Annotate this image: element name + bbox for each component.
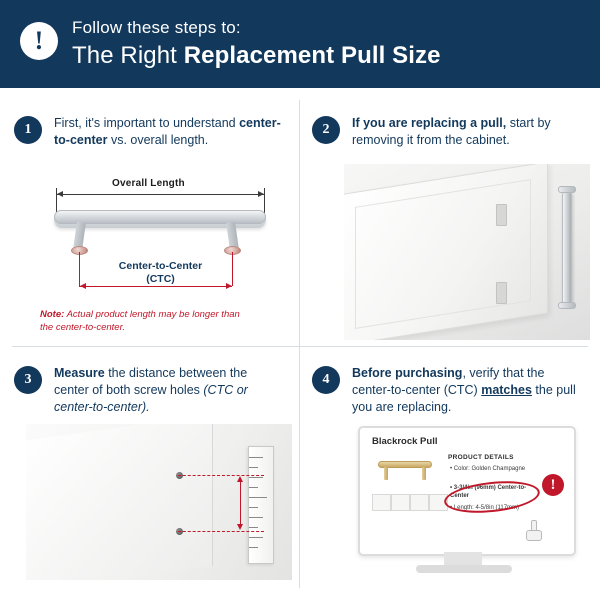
header-subtitle: Follow these steps to:	[72, 18, 241, 38]
alert-badge: !	[542, 474, 564, 496]
cabinet-hinge-bottom	[496, 282, 507, 304]
monitor-base	[416, 565, 512, 573]
overall-length-line	[56, 194, 264, 195]
ruler-tick	[249, 517, 263, 518]
cabinet-pull-cap-bottom	[558, 302, 576, 309]
header-title-emphasis: Replacement Pull Size	[184, 42, 441, 69]
ruler-tick	[249, 497, 267, 498]
step-2-number: 2	[312, 116, 340, 144]
cabinet-pull-cap-top	[558, 186, 576, 193]
thumbnail[interactable]	[372, 494, 391, 511]
header-alert-badge: !	[20, 22, 58, 60]
exclamation-mark-icon: !	[35, 28, 44, 54]
header-title-prefix: The Right	[72, 42, 184, 69]
measure-guide-top	[178, 475, 264, 476]
step-1-text-part1: First, it's important to understand	[54, 116, 239, 130]
product-pull-leg-right	[422, 467, 426, 480]
ruler-tick	[249, 507, 258, 508]
overall-length-tick-right	[264, 188, 265, 214]
product-details-heading: PRODUCT DETAILS	[448, 454, 514, 461]
overall-length-label: Overall Length	[108, 178, 189, 189]
step-4-cell: 4 Before purchasing, verify that the cen…	[310, 354, 590, 588]
step-1-text-part2: vs. overall length.	[107, 133, 208, 147]
step-3-text-bold: Measure	[54, 366, 105, 380]
ruler-tick	[249, 537, 263, 538]
step-3-text: Measure the distance between the center …	[54, 365, 284, 416]
ruler-tick	[249, 457, 263, 458]
step-2-text-bold: If you are replacing a pull,	[352, 116, 506, 130]
step-1-cell: 1 First, it's important to understand ce…	[12, 104, 292, 342]
horizontal-divider	[12, 346, 588, 347]
step-2-illustration	[344, 164, 590, 340]
overall-length-arrow-right	[258, 191, 264, 197]
step-1-note: Note: Actual product length may be longe…	[40, 308, 250, 334]
cabinet-hinge-top	[496, 204, 507, 226]
step-4-text-bold: Before purchasing	[352, 366, 462, 380]
step-3-number: 3	[14, 366, 42, 394]
product-image	[374, 456, 436, 486]
cabinet-pull	[562, 190, 572, 306]
ctc-label: Center-to-Center(CTC)	[88, 260, 233, 286]
monitor-screen: Blackrock Pull PRODUCT DETAILS • Color: …	[358, 426, 576, 556]
ctc-label-line1: Center-to-Center	[119, 260, 202, 272]
measure-arrow-down	[237, 524, 243, 530]
step-2-cell: 2 If you are replacing a pull, start by …	[310, 104, 590, 342]
product-title: Blackrock Pull	[372, 436, 437, 447]
step-4-text-underline: matches	[481, 383, 532, 397]
product-pull-leg-left	[384, 467, 388, 480]
exclamation-mark-icon: !	[551, 477, 556, 494]
vertical-divider	[299, 100, 300, 588]
ctc-label-line2: (CTC)	[146, 273, 175, 285]
ctc-guide-left	[79, 252, 80, 286]
step-1-note-label: Note:	[40, 309, 64, 320]
measure-guide-bottom	[178, 531, 264, 532]
cabinet-front	[26, 424, 213, 580]
mouse-cursor-icon	[526, 520, 540, 540]
step-1-illustration: Overall Length Center-to-Center(CTC) Not…	[32, 166, 290, 338]
cabinet-door	[344, 164, 548, 340]
step-2-text: If you are replacing a pull, start by re…	[352, 115, 582, 149]
ruler-tick	[249, 547, 258, 548]
header-banner: ! Follow these steps to: The Right Repla…	[0, 0, 600, 88]
step-4-illustration: Blackrock Pull PRODUCT DETAILS • Color: …	[358, 426, 590, 584]
ruler	[248, 446, 274, 564]
step-3-illustration	[26, 424, 292, 580]
step-4-text: Before purchasing, verify that the cente…	[352, 365, 582, 416]
infographic-page: ! Follow these steps to: The Right Repla…	[0, 0, 600, 600]
header-title: The Right Replacement Pull Size	[72, 42, 441, 70]
step-3-cell: 3 Measure the distance between the cente…	[12, 354, 292, 588]
ruler-tick	[249, 467, 258, 468]
ruler-tick	[249, 487, 258, 488]
thumbnail[interactable]	[391, 494, 410, 511]
step-1-note-text: Actual product length may be longer than…	[40, 309, 240, 333]
step-1-number: 1	[14, 116, 42, 144]
ctc-arrow-left	[80, 283, 86, 289]
step-4-number: 4	[312, 366, 340, 394]
ctc-line	[79, 286, 232, 287]
measure-span-line	[240, 480, 241, 526]
step-1-text: First, it's important to understand cent…	[54, 115, 284, 149]
spec-color: • Color: Golden Champagne	[450, 465, 528, 473]
ruler-tick	[249, 477, 263, 478]
cabinet-door-panel	[355, 179, 531, 329]
thumbnail[interactable]	[410, 494, 429, 511]
measure-arrow-up	[237, 476, 243, 482]
overall-length-arrow-left	[57, 191, 63, 197]
ruler-tick	[249, 527, 258, 528]
monitor-stand	[444, 552, 482, 566]
